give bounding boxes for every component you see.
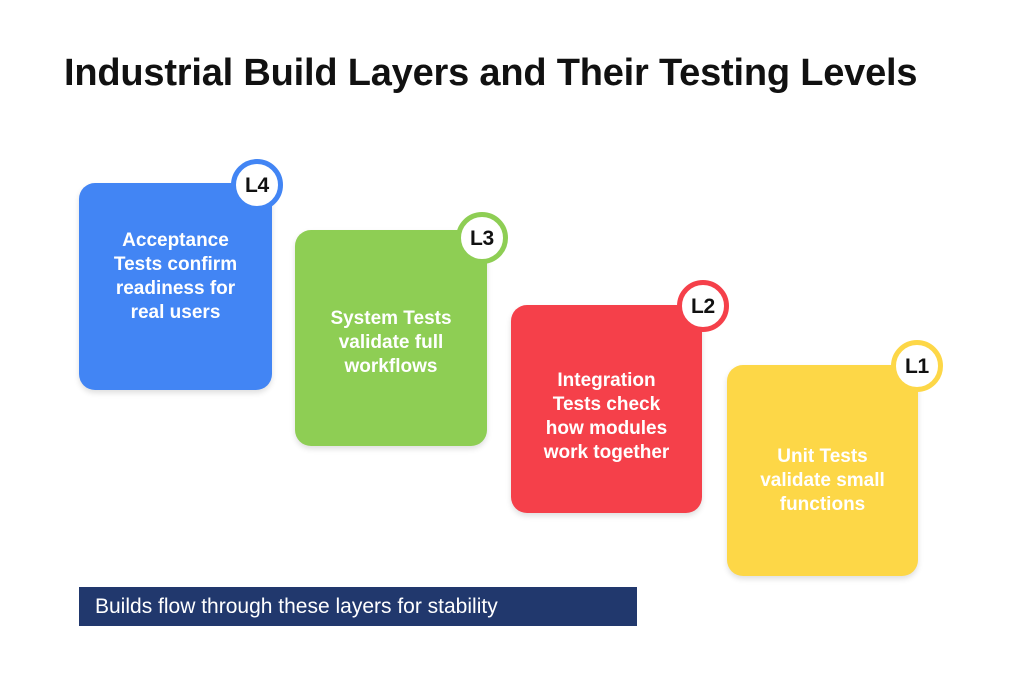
layer-badge-l3[interactable]: L3 [456,212,508,264]
layer-card-l2[interactable]: Integration Tests check how modules work… [511,305,702,513]
layer-badge-l2[interactable]: L2 [677,280,729,332]
layer-card-l2-text: Integration Tests check how modules work… [530,369,684,465]
infographic-canvas: Industrial Build Layers and Their Testin… [0,0,1024,682]
layer-card-l4-text: Acceptance Tests confirm readiness for r… [100,229,251,325]
layer-card-l1-text: Unit Tests validate small functions [746,445,899,517]
layer-badge-l2-label: L2 [691,296,715,317]
layer-badge-l1[interactable]: L1 [891,340,943,392]
layer-card-l3[interactable]: System Tests validate full workflows [295,230,487,446]
footer-banner: Builds flow through these layers for sta… [79,587,637,626]
layer-badge-l3-label: L3 [470,228,494,249]
layer-badge-l4-label: L4 [245,175,269,196]
layer-card-l4[interactable]: Acceptance Tests confirm readiness for r… [79,183,272,390]
layer-badge-l4[interactable]: L4 [231,159,283,211]
page-title: Industrial Build Layers and Their Testin… [64,50,964,96]
footer-banner-text: Builds flow through these layers for sta… [95,594,498,620]
layer-card-l1[interactable]: Unit Tests validate small functions [727,365,918,576]
layer-badge-l1-label: L1 [905,356,929,377]
layer-card-l3-text: System Tests validate full workflows [316,307,465,379]
